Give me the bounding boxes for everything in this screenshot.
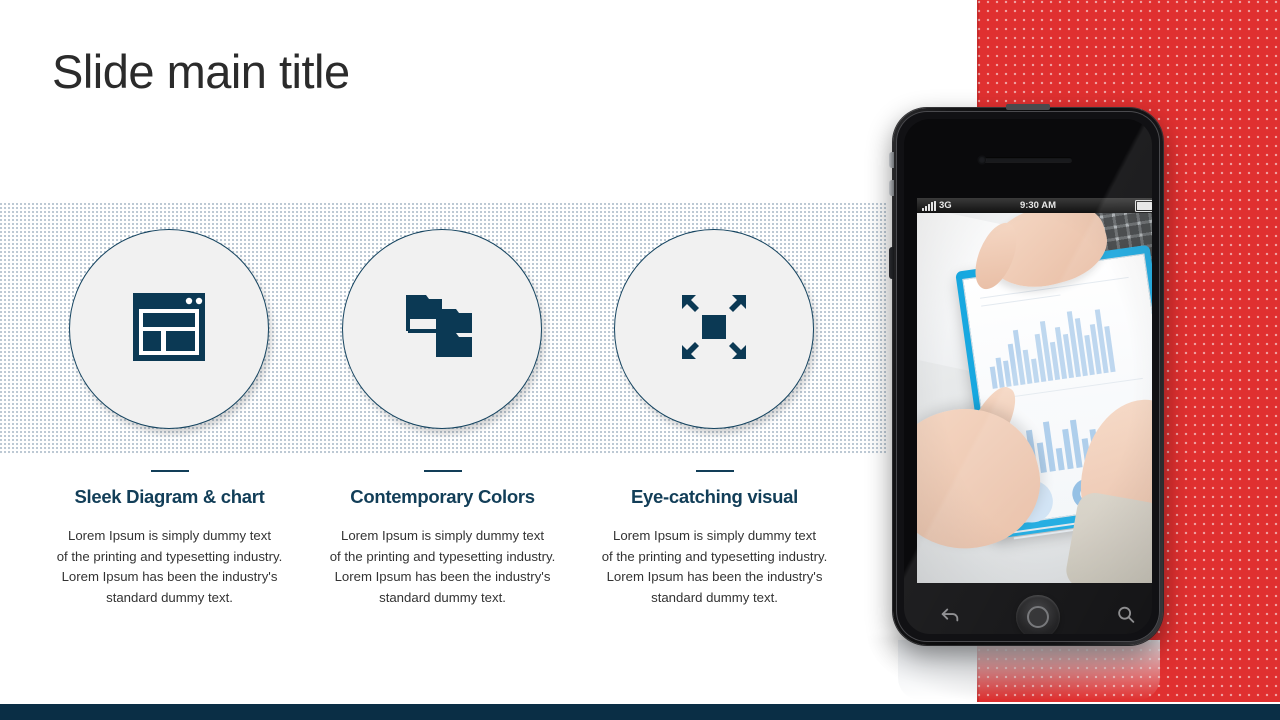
body-line: Lorem Ipsum is simply dummy text (32, 526, 307, 547)
phone-glass: 3G 9:30 AM (904, 119, 1152, 634)
phone-bezel: 3G 9:30 AM (896, 111, 1160, 642)
feature-text-1: Sleek Diagram & chart Lorem Ipsum is sim… (32, 470, 307, 608)
heading-divider-2 (424, 470, 462, 472)
heading-divider-1 (151, 470, 189, 472)
phone-earpiece (984, 157, 1072, 162)
circle-shape-2 (342, 229, 542, 429)
body-line: of the printing and typesetting industry… (32, 547, 307, 568)
body-line: Lorem Ipsum has been the industry's (577, 567, 852, 588)
body-line: standard dummy text. (305, 588, 580, 609)
feature-heading-1: Sleek Diagram & chart (32, 486, 307, 508)
bottom-accent-bar (0, 704, 1280, 720)
body-line: Lorem Ipsum has been the industry's (32, 567, 307, 588)
body-line: Lorem Ipsum has been the industry's (305, 567, 580, 588)
phone-bottom-controls (917, 591, 1152, 634)
photo-vignette (917, 213, 1152, 583)
status-right-group (1135, 200, 1152, 212)
status-time: 9:30 AM (917, 200, 1152, 211)
feature-text-2: Contemporary Colors Lorem Ipsum is simpl… (305, 470, 580, 608)
search-icon[interactable] (1115, 604, 1137, 631)
expand-arrows-icon (674, 287, 754, 372)
feature-circle-1[interactable] (69, 229, 269, 429)
feature-body-2: Lorem Ipsum is simply dummy text of the … (305, 526, 580, 608)
battery-full-icon (1135, 200, 1152, 212)
phone-reflection (898, 640, 1160, 700)
body-line: Lorem Ipsum is simply dummy text (577, 526, 852, 547)
phone-volume-down-button[interactable] (889, 247, 894, 279)
phone-top-antenna (1006, 104, 1050, 110)
feature-heading-2: Contemporary Colors (305, 486, 580, 508)
slide-canvas: Slide main title (0, 0, 1280, 720)
feature-icons-row (0, 203, 886, 455)
home-button-ring (1027, 606, 1049, 628)
page-title: Slide main title (52, 46, 350, 98)
phone-front-camera-icon (978, 156, 986, 164)
home-button-icon[interactable] (1016, 595, 1060, 634)
back-arrow-icon[interactable] (939, 604, 961, 631)
phone-mute-switch[interactable] (889, 152, 894, 168)
circle-shape-1 (69, 229, 269, 429)
screen-photo (917, 213, 1152, 583)
feature-text-3: Eye-catching visual Lorem Ipsum is simpl… (577, 470, 852, 608)
folder-hierarchy-icon (402, 287, 482, 372)
feature-body-1: Lorem Ipsum is simply dummy text of the … (32, 526, 307, 608)
phone-mockup: 3G 9:30 AM (893, 108, 1163, 645)
body-line: of the printing and typesetting industry… (577, 547, 852, 568)
body-line: Lorem Ipsum is simply dummy text (305, 526, 580, 547)
heading-divider-3 (696, 470, 734, 472)
phone-status-bar: 3G 9:30 AM (917, 198, 1152, 213)
feature-circle-3[interactable] (614, 229, 814, 429)
feature-heading-3: Eye-catching visual (577, 486, 852, 508)
body-line: standard dummy text. (32, 588, 307, 609)
phone-screen: 3G 9:30 AM (917, 198, 1152, 583)
body-line: of the printing and typesetting industry… (305, 547, 580, 568)
browser-layout-icon (129, 287, 209, 372)
feature-body-3: Lorem Ipsum is simply dummy text of the … (577, 526, 852, 608)
phone-volume-up-button[interactable] (889, 180, 894, 196)
body-line: standard dummy text. (577, 588, 852, 609)
circle-shape-3 (614, 229, 814, 429)
feature-circle-2[interactable] (342, 229, 542, 429)
